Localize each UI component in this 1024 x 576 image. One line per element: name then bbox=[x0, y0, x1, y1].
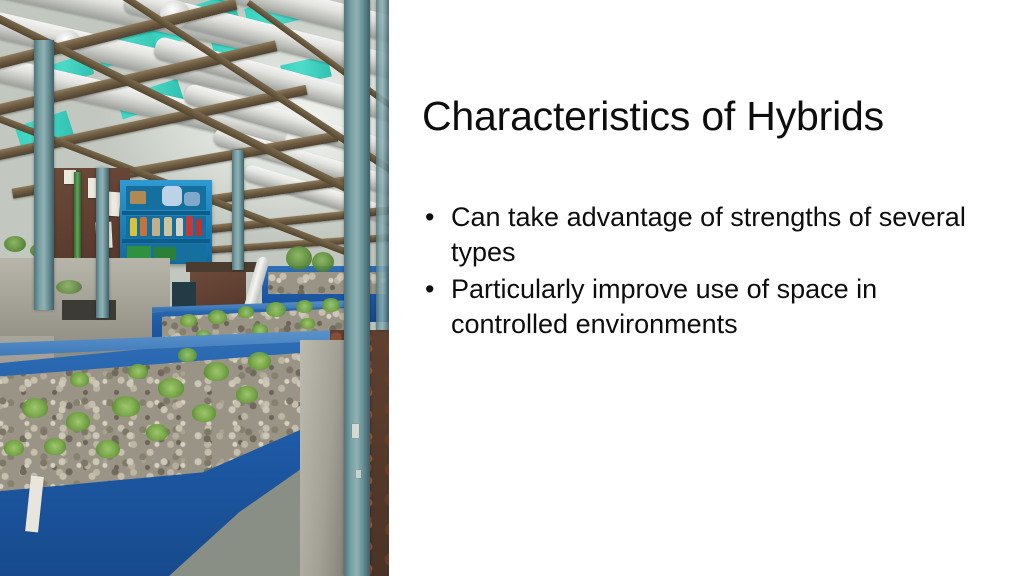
lettuce-seedling bbox=[236, 386, 258, 403]
lettuce-seedling bbox=[266, 302, 286, 317]
green-hose bbox=[74, 172, 81, 264]
supply-bottle bbox=[152, 218, 160, 236]
lettuce-seedling bbox=[66, 412, 90, 431]
lettuce-seedling bbox=[208, 310, 227, 324]
support-post-mid bbox=[232, 150, 244, 270]
bullet-marker-icon: • bbox=[425, 272, 434, 307]
background-plant bbox=[56, 280, 82, 294]
post-paint-mark bbox=[352, 424, 359, 438]
lettuce-seedling bbox=[112, 396, 140, 417]
support-post-far bbox=[376, 0, 389, 330]
support-post-right bbox=[344, 0, 370, 576]
lettuce-seedling bbox=[300, 318, 315, 329]
lettuce-seedling bbox=[192, 404, 216, 422]
plant-far bbox=[286, 246, 312, 270]
lettuce-seedling bbox=[44, 438, 66, 455]
lettuce-seedling bbox=[322, 298, 340, 312]
lettuce-seedling bbox=[296, 300, 313, 313]
bullet-text: Particularly improve use of space in con… bbox=[451, 274, 877, 339]
plant-far bbox=[312, 252, 334, 272]
supply-container bbox=[184, 192, 200, 206]
lettuce-seedling bbox=[96, 440, 120, 458]
bullet-list: • Can take advantage of strengths of sev… bbox=[422, 200, 997, 344]
supply-bottle bbox=[164, 217, 172, 236]
lettuce-seedling bbox=[4, 440, 24, 456]
lettuce-seedling bbox=[146, 424, 168, 441]
lettuce-seedling bbox=[70, 372, 89, 387]
lettuce-seedling bbox=[158, 378, 184, 398]
shelf-board bbox=[122, 211, 210, 215]
supply-container bbox=[130, 191, 146, 204]
bullet-marker-icon: • bbox=[425, 200, 434, 235]
supply-bottle bbox=[186, 216, 193, 236]
support-post-inner bbox=[96, 168, 109, 318]
concrete-ledge bbox=[300, 340, 344, 576]
supply-bottle bbox=[196, 219, 202, 236]
lettuce-seedling bbox=[238, 306, 254, 318]
shelf-board bbox=[122, 239, 210, 243]
supply-container bbox=[162, 186, 182, 206]
lettuce-seedling bbox=[178, 348, 197, 362]
lettuce-seedling bbox=[128, 364, 148, 379]
lettuce-seedling bbox=[204, 362, 229, 381]
lettuce-seedling bbox=[248, 352, 271, 370]
greenhouse-aquaponics-photo bbox=[0, 0, 389, 576]
list-item: • Can take advantage of strengths of sev… bbox=[422, 200, 997, 270]
support-post-left bbox=[34, 40, 54, 310]
background-plant bbox=[4, 236, 26, 252]
list-item: • Particularly improve use of space in c… bbox=[422, 272, 997, 342]
post-paint-mark bbox=[356, 470, 361, 478]
slide-text-panel: Characteristics of Hybrids • Can take ad… bbox=[389, 0, 1024, 576]
slide-title: Characteristics of Hybrids bbox=[422, 92, 1002, 140]
supply-bottle bbox=[130, 218, 137, 236]
lettuce-seedling bbox=[180, 314, 197, 327]
supply-bottle bbox=[176, 218, 183, 236]
presentation-slide: Characteristics of Hybrids • Can take ad… bbox=[0, 0, 1024, 576]
bullet-text: Can take advantage of strengths of sever… bbox=[451, 202, 966, 267]
supply-bottle bbox=[140, 217, 147, 236]
lettuce-seedling bbox=[22, 398, 48, 418]
